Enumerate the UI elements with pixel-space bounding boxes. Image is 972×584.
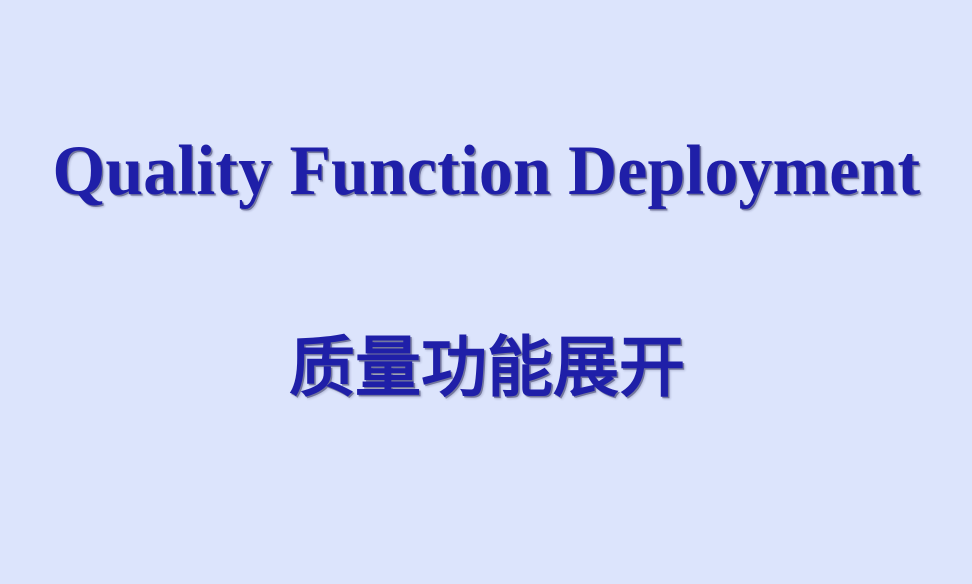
slide-title-chinese: 质量功能展开 bbox=[287, 335, 685, 401]
slide-title-english: Quality Function Deployment bbox=[52, 136, 920, 207]
presentation-slide: Quality Function Deployment 质量功能展开 bbox=[0, 0, 972, 584]
slide-title-chinese-container: 质量功能展开 bbox=[0, 322, 972, 414]
slide-title-english-container: Quality Function Deployment bbox=[0, 126, 972, 216]
